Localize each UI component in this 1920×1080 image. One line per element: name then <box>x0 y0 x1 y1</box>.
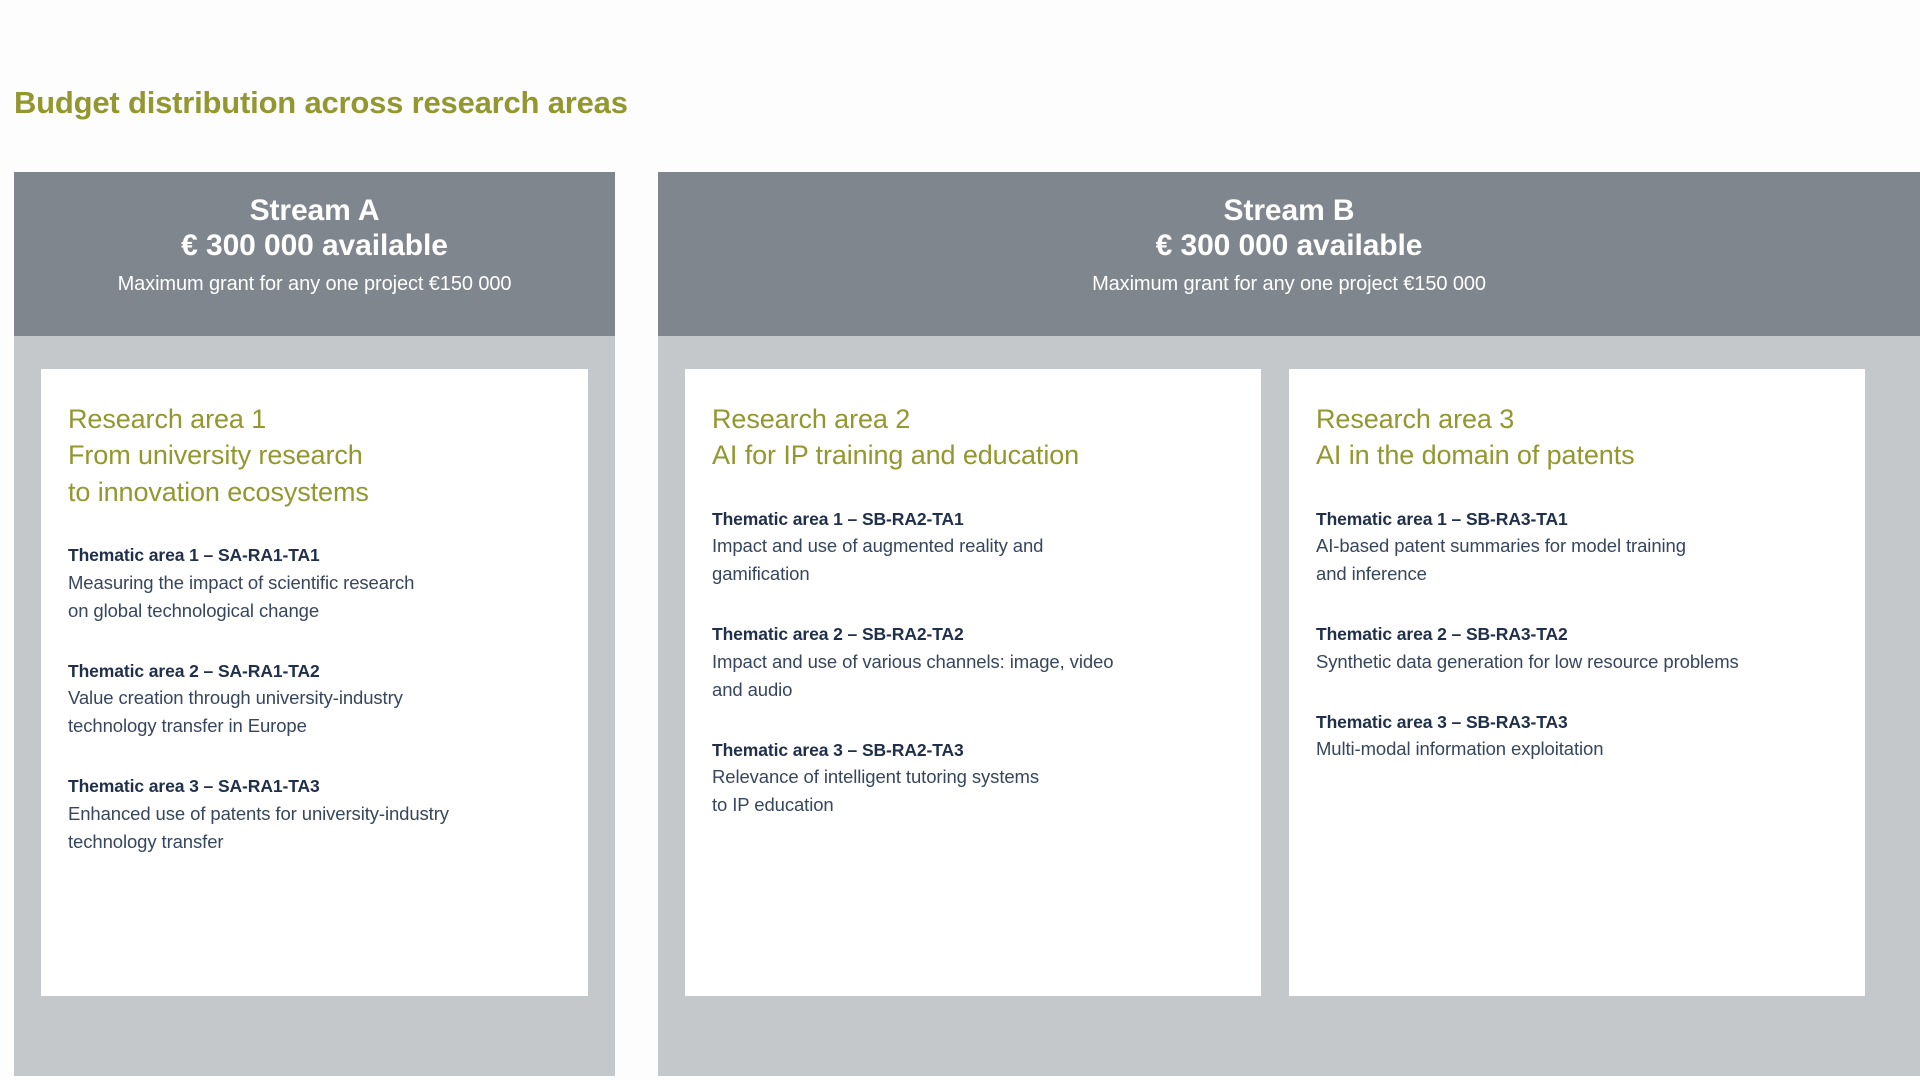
research-area-1-themes: Thematic area 1 – SA-RA1-TA1 Measuring t… <box>68 542 561 855</box>
thematic-area-item: Thematic area 3 – SA-RA1-TA3 Enhanced us… <box>68 773 561 855</box>
thematic-area-item: Thematic area 3 – SB-RA3-TA3 Multi-modal… <box>1316 709 1838 763</box>
thematic-area-description: Synthetic data generation for low resour… <box>1316 648 1838 676</box>
research-area-card-2: Research area 2 AI for IP training and e… <box>685 369 1261 996</box>
stream-b-max-grant: Maximum grant for any one project €150 0… <box>658 273 1920 296</box>
thematic-area-description: AI-based patent summaries for model trai… <box>1316 532 1838 588</box>
research-area-1-title: Research area 1 From university research… <box>68 401 561 510</box>
stream-b-cards: Research area 2 AI for IP training and e… <box>658 336 1920 996</box>
thematic-area-heading: Thematic area 3 – SB-RA2-TA3 <box>712 737 1234 763</box>
thematic-area-description-line: Value creation through university-indust… <box>68 684 561 712</box>
research-area-2-themes: Thematic area 1 – SB-RA2-TA1 Impact and … <box>712 506 1234 819</box>
thematic-area-item: Thematic area 1 – SB-RA2-TA1 Impact and … <box>712 506 1234 588</box>
thematic-area-description-line: and audio <box>712 676 1234 704</box>
research-area-3-themes: Thematic area 1 – SB-RA3-TA1 AI-based pa… <box>1316 506 1838 763</box>
research-area-3-label: Research area 3 <box>1316 401 1838 437</box>
thematic-area-description-line: Measuring the impact of scientific resea… <box>68 569 561 597</box>
thematic-area-description-line: Synthetic data generation for low resour… <box>1316 648 1838 676</box>
thematic-area-item: Thematic area 1 – SA-RA1-TA1 Measuring t… <box>68 542 561 624</box>
thematic-area-description-line: and inference <box>1316 560 1838 588</box>
research-area-card-3: Research area 3 AI in the domain of pate… <box>1289 369 1865 996</box>
thematic-area-heading: Thematic area 3 – SA-RA1-TA3 <box>68 773 561 799</box>
thematic-area-description: Enhanced use of patents for university-i… <box>68 800 561 856</box>
thematic-area-description: Impact and use of augmented reality and … <box>712 532 1234 588</box>
thematic-area-description-line: technology transfer <box>68 828 561 856</box>
page-title: Budget distribution across research area… <box>14 85 628 121</box>
thematic-area-description-line: Relevance of intelligent tutoring system… <box>712 763 1234 791</box>
thematic-area-description: Relevance of intelligent tutoring system… <box>712 763 1234 819</box>
thematic-area-description-line: Multi-modal information exploitation <box>1316 735 1838 763</box>
stream-b-name: Stream B <box>658 193 1920 228</box>
thematic-area-description-line: to IP education <box>712 791 1234 819</box>
stream-a-header: Stream A € 300 000 available Maximum gra… <box>14 172 615 336</box>
thematic-area-description-line: technology transfer in Europe <box>68 712 561 740</box>
thematic-area-heading: Thematic area 1 – SB-RA3-TA1 <box>1316 506 1838 532</box>
research-area-1-name-line-1: From university research <box>68 437 561 473</box>
stream-panel-b: Stream B € 300 000 available Maximum gra… <box>658 172 1920 1076</box>
thematic-area-description-line: on global technological change <box>68 597 561 625</box>
thematic-area-description-line: gamification <box>712 560 1234 588</box>
thematic-area-item: Thematic area 1 – SB-RA3-TA1 AI-based pa… <box>1316 506 1838 588</box>
research-area-2-label: Research area 2 <box>712 401 1234 437</box>
stream-panel-a: Stream A € 300 000 available Maximum gra… <box>14 172 615 1076</box>
thematic-area-description-line: Enhanced use of patents for university-i… <box>68 800 561 828</box>
thematic-area-heading: Thematic area 2 – SA-RA1-TA2 <box>68 658 561 684</box>
research-area-2-title: Research area 2 AI for IP training and e… <box>712 401 1234 474</box>
thematic-area-description: Impact and use of various channels: imag… <box>712 648 1234 704</box>
stream-a-cards: Research area 1 From university research… <box>14 336 615 996</box>
thematic-area-description: Multi-modal information exploitation <box>1316 735 1838 763</box>
research-area-1-name-line-2: to innovation ecosystems <box>68 474 561 510</box>
stream-a-max-grant: Maximum grant for any one project €150 0… <box>14 273 615 296</box>
thematic-area-heading: Thematic area 1 – SA-RA1-TA1 <box>68 542 561 568</box>
research-area-2-name-line-1: AI for IP training and education <box>712 437 1234 473</box>
research-area-3-title: Research area 3 AI in the domain of pate… <box>1316 401 1838 474</box>
thematic-area-description-line: Impact and use of augmented reality and <box>712 532 1234 560</box>
research-area-3-name-line-1: AI in the domain of patents <box>1316 437 1838 473</box>
diagram-canvas: Budget distribution across research area… <box>0 0 1920 1080</box>
thematic-area-description: Value creation through university-indust… <box>68 684 561 740</box>
research-area-card-1: Research area 1 From university research… <box>41 369 588 996</box>
research-area-1-label: Research area 1 <box>68 401 561 437</box>
thematic-area-heading: Thematic area 1 – SB-RA2-TA1 <box>712 506 1234 532</box>
thematic-area-description-line: Impact and use of various channels: imag… <box>712 648 1234 676</box>
stream-b-amount: € 300 000 available <box>658 228 1920 265</box>
thematic-area-heading: Thematic area 2 – SB-RA3-TA2 <box>1316 621 1838 647</box>
thematic-area-item: Thematic area 3 – SB-RA2-TA3 Relevance o… <box>712 737 1234 819</box>
stream-a-name: Stream A <box>14 193 615 228</box>
thematic-area-item: Thematic area 2 – SA-RA1-TA2 Value creat… <box>68 658 561 740</box>
thematic-area-item: Thematic area 2 – SB-RA3-TA2 Synthetic d… <box>1316 621 1838 675</box>
stream-b-header: Stream B € 300 000 available Maximum gra… <box>658 172 1920 336</box>
thematic-area-heading: Thematic area 2 – SB-RA2-TA2 <box>712 621 1234 647</box>
stream-a-amount: € 300 000 available <box>14 228 615 265</box>
thematic-area-heading: Thematic area 3 – SB-RA3-TA3 <box>1316 709 1838 735</box>
thematic-area-item: Thematic area 2 – SB-RA2-TA2 Impact and … <box>712 621 1234 703</box>
thematic-area-description: Measuring the impact of scientific resea… <box>68 569 561 625</box>
thematic-area-description-line: AI-based patent summaries for model trai… <box>1316 532 1838 560</box>
